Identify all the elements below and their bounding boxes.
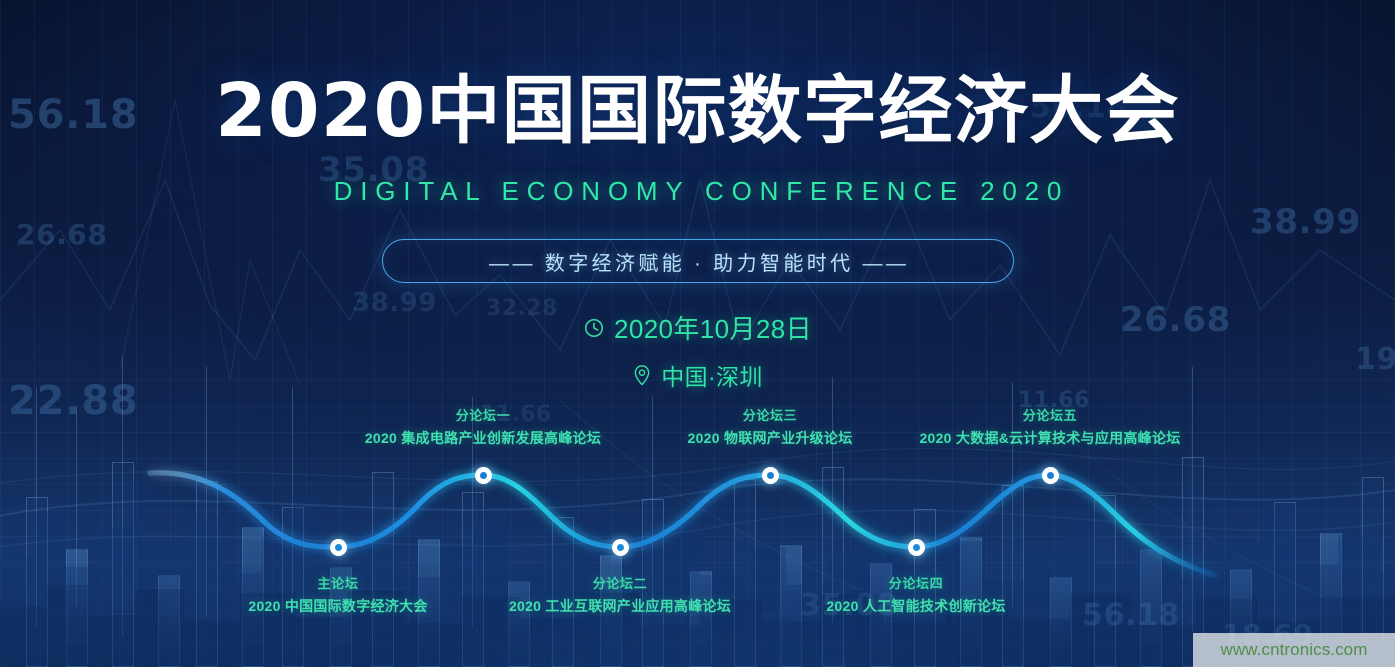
forum-label-forum-2[interactable]: 分论坛二2020 工业互联网产业应用高峰论坛 bbox=[509, 573, 731, 616]
forum-wave-diagram: 主论坛2020 中国国际数字经济大会分论坛一2020 集成电路产业创新发展高峰论… bbox=[0, 405, 1395, 645]
wave-node-forum-5[interactable] bbox=[1042, 467, 1059, 484]
conference-banner: 56.1826.6822.8835.0838.9932.2811.6656.18… bbox=[0, 0, 1395, 667]
forum-title-forum-4: 2020 人工智能技术创新论坛 bbox=[826, 596, 1005, 616]
slogan-pill: —— 数字经济赋能 · 助力智能时代 —— bbox=[382, 239, 1014, 283]
wave-node-core bbox=[335, 544, 342, 551]
wave-node-forum-4[interactable] bbox=[908, 539, 925, 556]
forum-title-forum-3: 2020 物联网产业升级论坛 bbox=[688, 428, 853, 448]
event-date-text: 2020年10月28日 bbox=[614, 309, 812, 346]
forum-title-forum-2: 2020 工业互联网产业应用高峰论坛 bbox=[509, 596, 731, 616]
subtitle-english: DIGITAL ECONOMY CONFERENCE 2020 bbox=[0, 176, 1395, 207]
event-location-text: 中国·深圳 bbox=[661, 358, 762, 392]
forum-name-forum-3: 分论坛三 bbox=[688, 405, 853, 424]
banner-content: 2020中国国际数字经济大会 DIGITAL ECONOMY CONFERENC… bbox=[0, 0, 1395, 667]
wave-node-core bbox=[480, 472, 487, 479]
watermark: www.cntronics.com bbox=[1193, 633, 1395, 667]
clock-icon bbox=[583, 317, 605, 339]
forum-name-forum-2: 分论坛二 bbox=[509, 573, 731, 592]
forum-title-forum-1: 2020 集成电路产业创新发展高峰论坛 bbox=[365, 428, 601, 448]
wave-node-core bbox=[617, 544, 624, 551]
forum-name-forum-5: 分论坛五 bbox=[919, 405, 1180, 424]
wave-node-forum-2[interactable] bbox=[612, 539, 629, 556]
wave-node-core bbox=[767, 472, 774, 479]
wave-node-core bbox=[1047, 472, 1054, 479]
forum-name-main: 主论坛 bbox=[248, 573, 427, 592]
forum-title-forum-5: 2020 大数据&云计算技术与应用高峰论坛 bbox=[919, 428, 1180, 448]
slogan-text: —— 数字经济赋能 · 助力智能时代 —— bbox=[486, 247, 910, 276]
wave-curve-icon bbox=[0, 453, 1395, 583]
forum-label-forum-5[interactable]: 分论坛五2020 大数据&云计算技术与应用高峰论坛 bbox=[919, 405, 1180, 448]
forum-title-main: 2020 中国国际数字经济大会 bbox=[248, 596, 427, 616]
wave-node-forum-1[interactable] bbox=[475, 467, 492, 484]
map-pin-icon bbox=[632, 364, 652, 386]
forum-label-forum-4[interactable]: 分论坛四2020 人工智能技术创新论坛 bbox=[826, 573, 1005, 616]
forum-name-forum-1: 分论坛一 bbox=[365, 405, 601, 424]
wave-node-forum-3[interactable] bbox=[762, 467, 779, 484]
forum-label-forum-3[interactable]: 分论坛三2020 物联网产业升级论坛 bbox=[688, 405, 853, 448]
event-location: 中国·深圳 bbox=[0, 358, 1395, 392]
forum-label-forum-1[interactable]: 分论坛一2020 集成电路产业创新发展高峰论坛 bbox=[365, 405, 601, 448]
wave-node-main[interactable] bbox=[330, 539, 347, 556]
watermark-text: www.cntronics.com bbox=[1221, 640, 1368, 660]
forum-label-main[interactable]: 主论坛2020 中国国际数字经济大会 bbox=[248, 573, 427, 616]
event-date: 2020年10月28日 bbox=[0, 309, 1395, 346]
wave-node-core bbox=[913, 544, 920, 551]
page-title: 2020中国国际数字经济大会 bbox=[0, 74, 1395, 148]
forum-name-forum-4: 分论坛四 bbox=[826, 573, 1005, 592]
